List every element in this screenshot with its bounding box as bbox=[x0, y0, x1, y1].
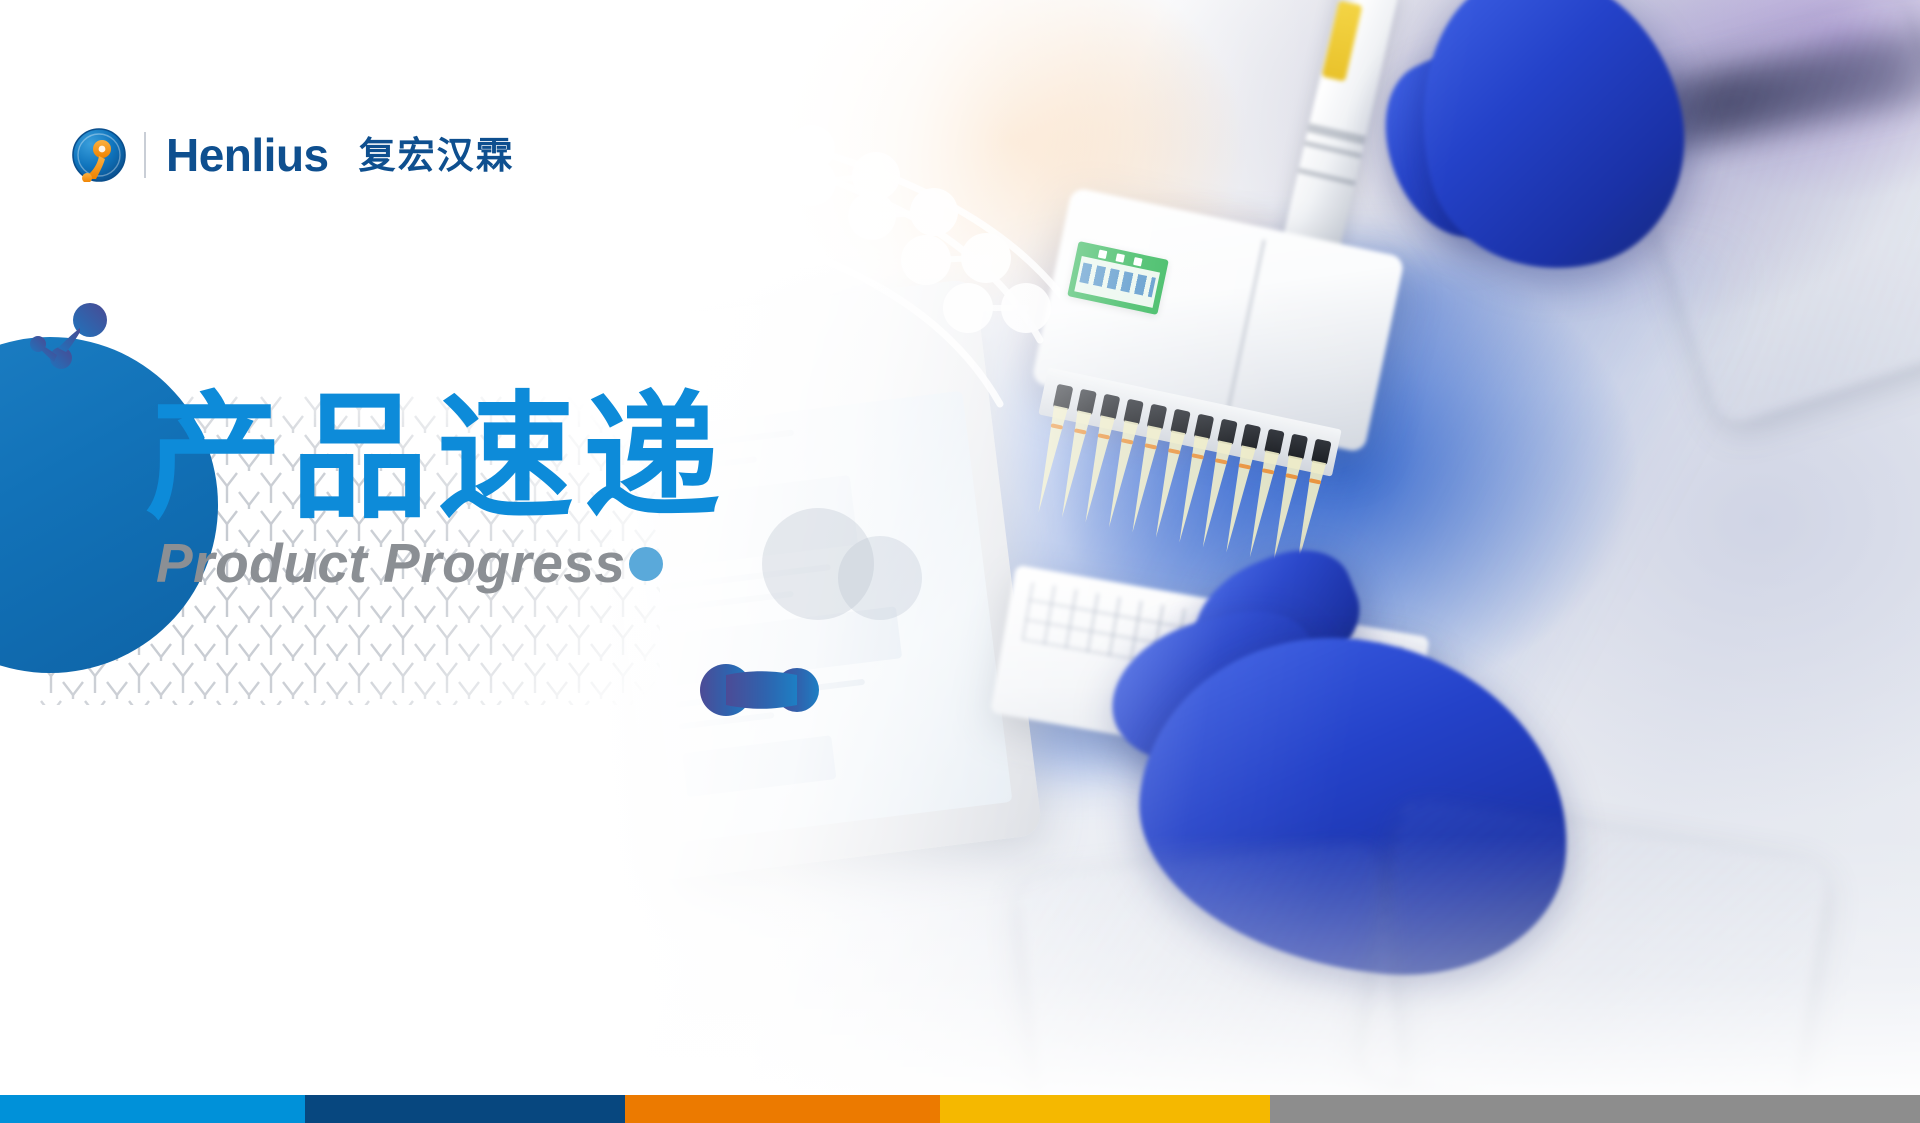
brand-name-en: Henlius bbox=[166, 132, 329, 178]
slide-root: Henlius 复宏汉霖 产品速递 Product Progress bbox=[0, 0, 1920, 1123]
page-title-cn: 产品速递 bbox=[145, 382, 729, 535]
molecule-accent-small bbox=[28, 302, 118, 382]
photo-bottom-fade bbox=[0, 835, 1920, 1095]
segment-navy bbox=[305, 1095, 625, 1123]
ghost-circle-small bbox=[838, 536, 922, 620]
segment-amber bbox=[940, 1095, 1270, 1123]
accent-dot-light-blue bbox=[629, 547, 663, 581]
brand-logo[interactable]: Henlius 复宏汉霖 bbox=[72, 124, 515, 186]
segment-light-blue bbox=[0, 1095, 305, 1123]
page-subtitle-en: Product Progress bbox=[156, 533, 626, 594]
segment-gray bbox=[1270, 1095, 1920, 1123]
segment-orange bbox=[625, 1095, 940, 1123]
brand-name-cn: 复宏汉霖 bbox=[359, 137, 515, 174]
henlius-molecule-mark-icon bbox=[72, 128, 126, 182]
brand-color-bar bbox=[0, 1095, 1920, 1123]
logo-divider bbox=[144, 132, 146, 178]
molecule-accent-large bbox=[700, 659, 820, 721]
